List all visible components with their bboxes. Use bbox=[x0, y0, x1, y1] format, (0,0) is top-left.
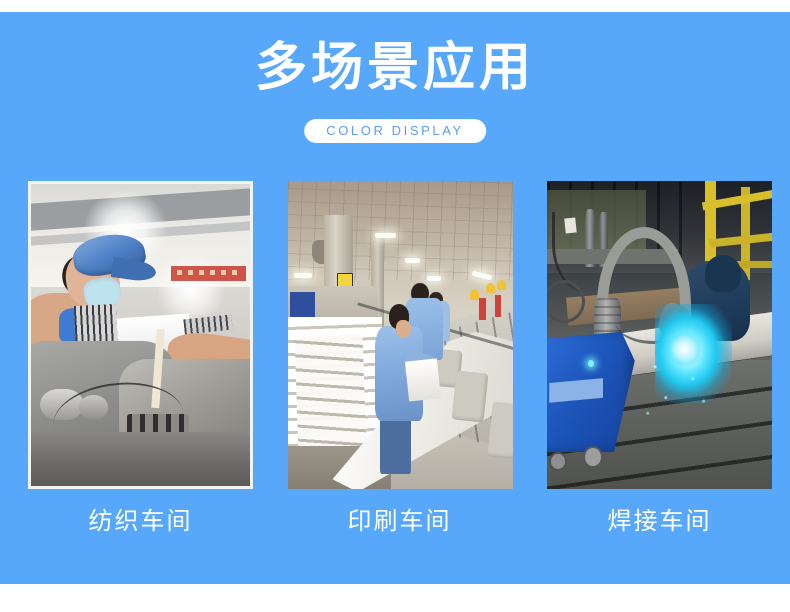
page-title: 多场景应用 bbox=[0, 36, 790, 100]
paper-bundle-in-hand bbox=[405, 358, 441, 401]
caption-welding: 焊接车间 bbox=[547, 505, 772, 539]
ceiling-lamp bbox=[294, 273, 312, 278]
red-control-box bbox=[495, 295, 502, 317]
caption-textile: 纺织车间 bbox=[28, 505, 253, 539]
red-control-box bbox=[479, 298, 486, 320]
red-wall-banner bbox=[171, 266, 245, 281]
welding-workshop-photo bbox=[547, 181, 772, 489]
textile-workshop-photo bbox=[28, 181, 253, 489]
welding-helmet bbox=[705, 255, 741, 292]
subtitle-pill-label: COLOR DISPLAY bbox=[326, 119, 464, 143]
ceiling-lamp bbox=[375, 233, 395, 238]
caption-printing: 印刷车间 bbox=[287, 505, 512, 539]
ceiling-lamp bbox=[405, 258, 421, 263]
welding-sparks bbox=[637, 341, 727, 427]
yellow-indicator-lamp bbox=[497, 280, 506, 291]
front-worker-legs bbox=[380, 412, 412, 474]
cart-caster-wheel bbox=[583, 446, 603, 468]
yellow-indicator-lamp bbox=[470, 289, 479, 300]
subtitle-pill: COLOR DISPLAY bbox=[304, 119, 486, 143]
ceiling-grid bbox=[288, 181, 513, 280]
cart-caster-wheel-2 bbox=[549, 452, 567, 471]
scene-card-welding[interactable] bbox=[547, 181, 772, 489]
scene-card-printing[interactable] bbox=[288, 181, 513, 489]
promo-banner-page: 多场景应用 COLOR DISPLAY bbox=[0, 0, 790, 612]
scene-card-list bbox=[28, 181, 772, 489]
printing-workshop-photo bbox=[288, 181, 513, 489]
metal-ring bbox=[547, 280, 585, 323]
ceiling-lamp bbox=[427, 276, 441, 281]
machine-seat bbox=[452, 370, 488, 422]
scene-card-textile[interactable] bbox=[28, 181, 253, 489]
yellow-indicator-lamp bbox=[486, 283, 495, 294]
